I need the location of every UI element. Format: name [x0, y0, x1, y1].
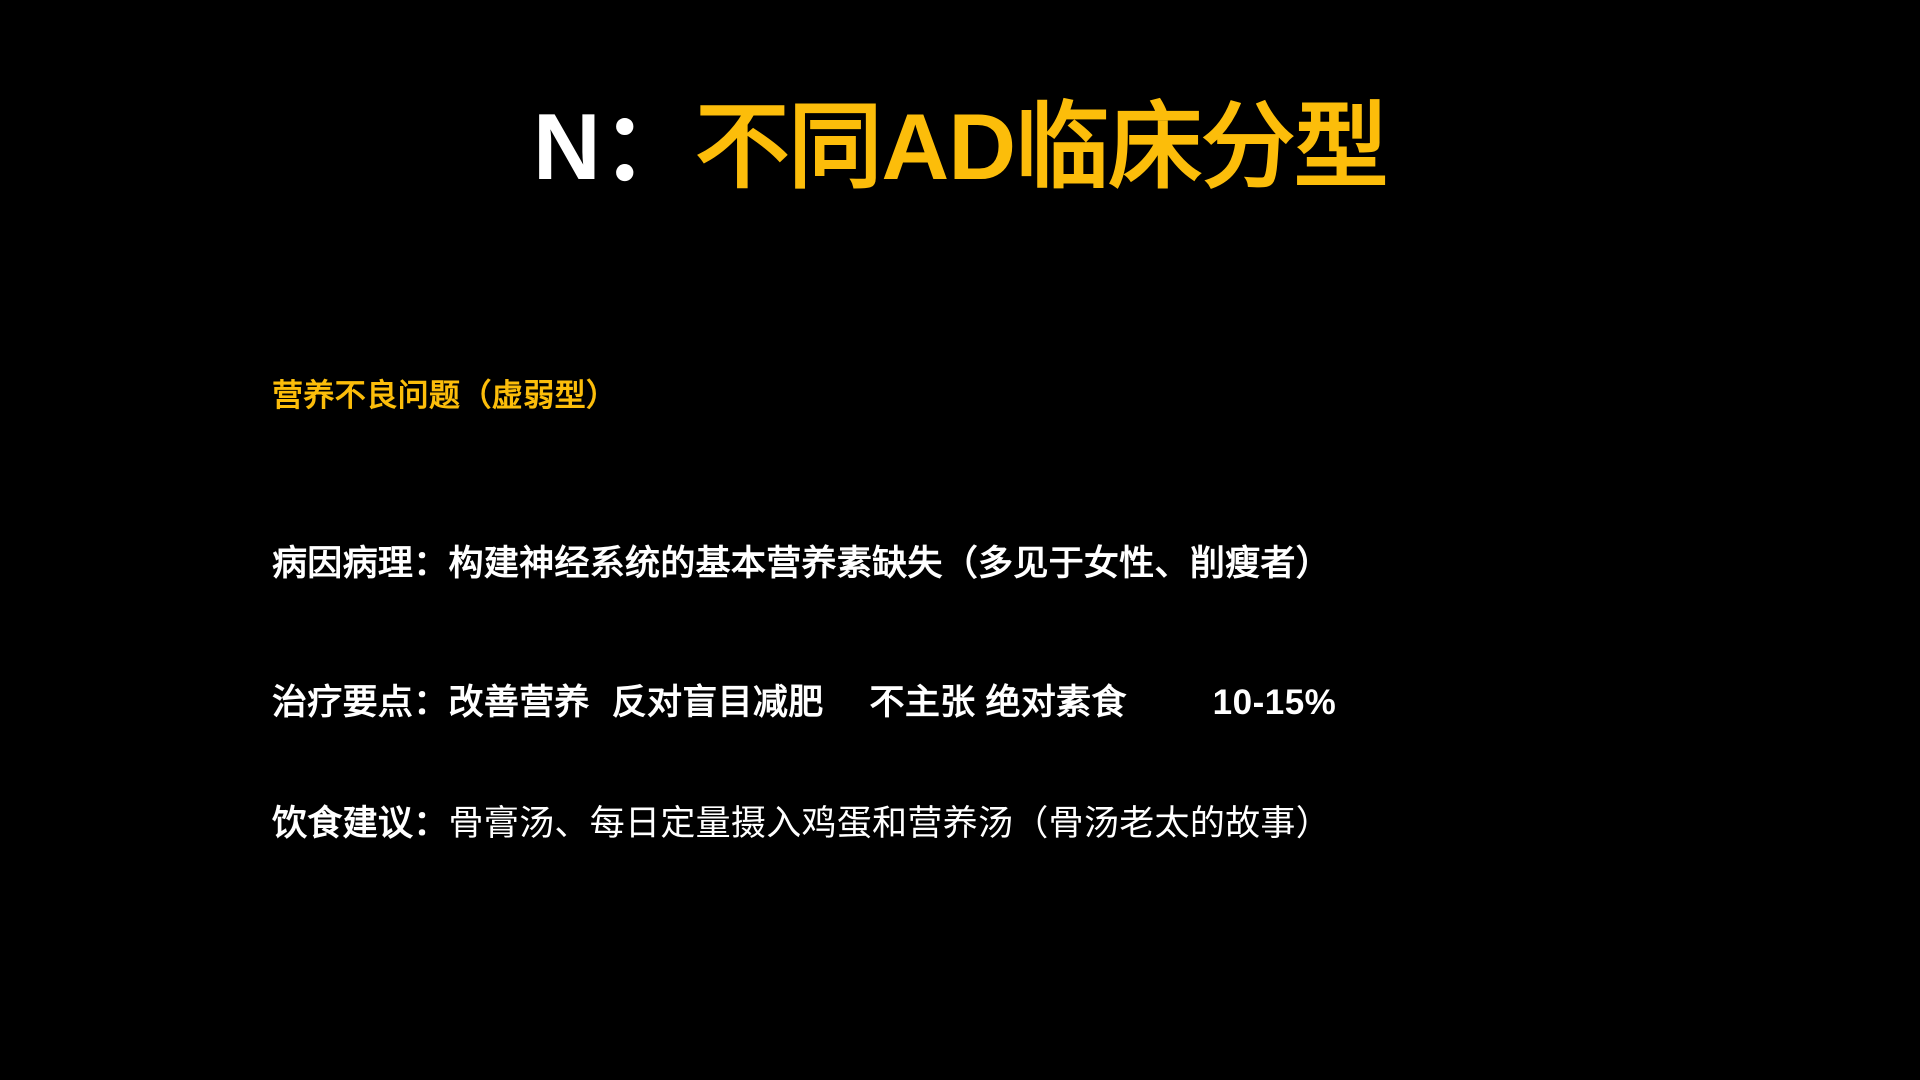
- bullet-treatment-item-3: 不主张 绝对素食: [870, 683, 1127, 722]
- bullet-treatment-item-1: 改善营养: [449, 683, 590, 722]
- bullet-etiology-value: 构建神经系统的基本营养素缺失（多见于女性、削瘦者）: [449, 544, 1332, 583]
- bullet-etiology-separator: ：: [413, 544, 448, 583]
- presentation-slide: N：不同AD临床分型 营养不良问题（虚弱型） 病因病理：构建神经系统的基本营养素…: [0, 0, 1920, 1080]
- bullet-treatment-label: 治疗要点: [272, 683, 413, 722]
- slide-title-colon: ：: [601, 94, 695, 199]
- slide-title-prefix: N: [533, 94, 601, 199]
- bullet-diet: 饮食建议：骨膏汤、每日定量摄入鸡蛋和营养汤（骨汤老太的故事）: [272, 795, 1331, 846]
- bullet-diet-separator: ：: [413, 804, 448, 843]
- bullet-treatment-separator: ：: [413, 683, 448, 722]
- bullet-treatment-percentage: 10-15%: [1213, 683, 1337, 722]
- bullet-diet-value: 骨膏汤、每日定量摄入鸡蛋和营养汤（骨汤老太的故事）: [449, 804, 1332, 843]
- bullet-etiology-label: 病因病理: [272, 544, 413, 583]
- bullet-diet-label: 饮食建议: [272, 804, 413, 843]
- bullet-treatment-item-2: 反对盲目减肥: [612, 683, 824, 722]
- slide-title: N：不同AD临床分型: [0, 92, 1920, 203]
- bullet-etiology: 病因病理：构建神经系统的基本营养素缺失（多见于女性、削瘦者）: [272, 535, 1331, 586]
- section-heading: 营养不良问题（虚弱型）: [272, 370, 617, 415]
- bullet-treatment: 治疗要点：改善营养反对盲目减肥不主张 绝对素食10-15%: [272, 674, 1336, 725]
- slide-title-main: 不同AD临床分型: [695, 94, 1387, 199]
